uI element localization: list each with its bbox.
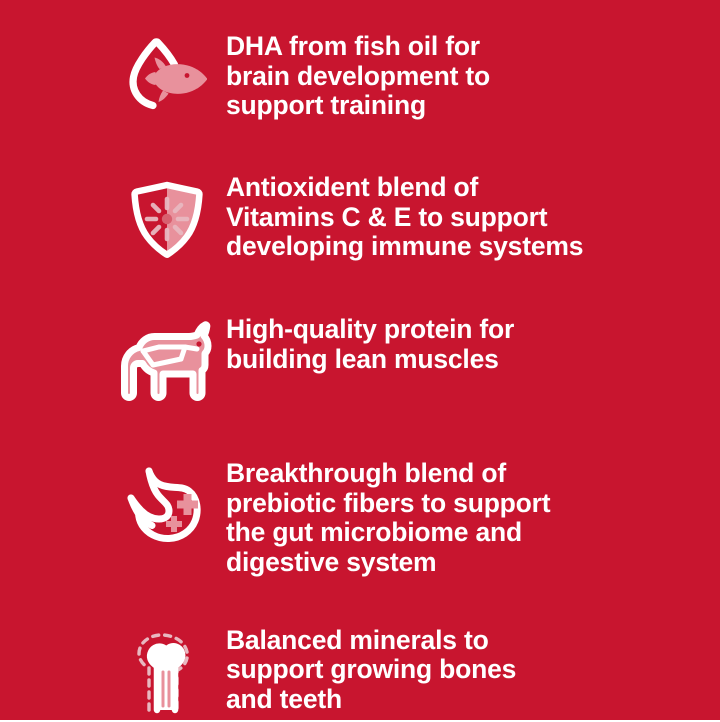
benefit-item-prebiotic: Breakthrough blend of prebiotic fibers t… bbox=[108, 457, 612, 578]
benefit-text: Breakthrough blend of prebiotic fibers t… bbox=[226, 457, 612, 578]
benefit-item-dha: DHA from fish oil for brain development … bbox=[108, 30, 612, 128]
benefit-item-minerals: Balanced minerals to support growing bon… bbox=[108, 624, 612, 722]
antioxidant-shield-icon bbox=[108, 171, 226, 269]
benefit-text: Balanced minerals to support growing bon… bbox=[226, 624, 612, 715]
benefit-item-protein: High-quality protein for building lean m… bbox=[108, 313, 612, 411]
fish-oil-droplet-icon bbox=[108, 30, 226, 128]
benefit-text: Antioxident blend of Vitamins C & E to s… bbox=[226, 171, 612, 262]
benefit-text: High-quality protein for building lean m… bbox=[226, 313, 612, 374]
benefit-text: DHA from fish oil for brain development … bbox=[226, 30, 612, 121]
dog-muscle-icon bbox=[108, 313, 226, 411]
bone-icon bbox=[108, 624, 226, 722]
benefits-panel: DHA from fish oil for brain development … bbox=[0, 0, 720, 720]
benefit-item-antioxidant: Antioxident blend of Vitamins C & E to s… bbox=[108, 171, 612, 269]
stomach-digestive-icon bbox=[108, 457, 226, 555]
